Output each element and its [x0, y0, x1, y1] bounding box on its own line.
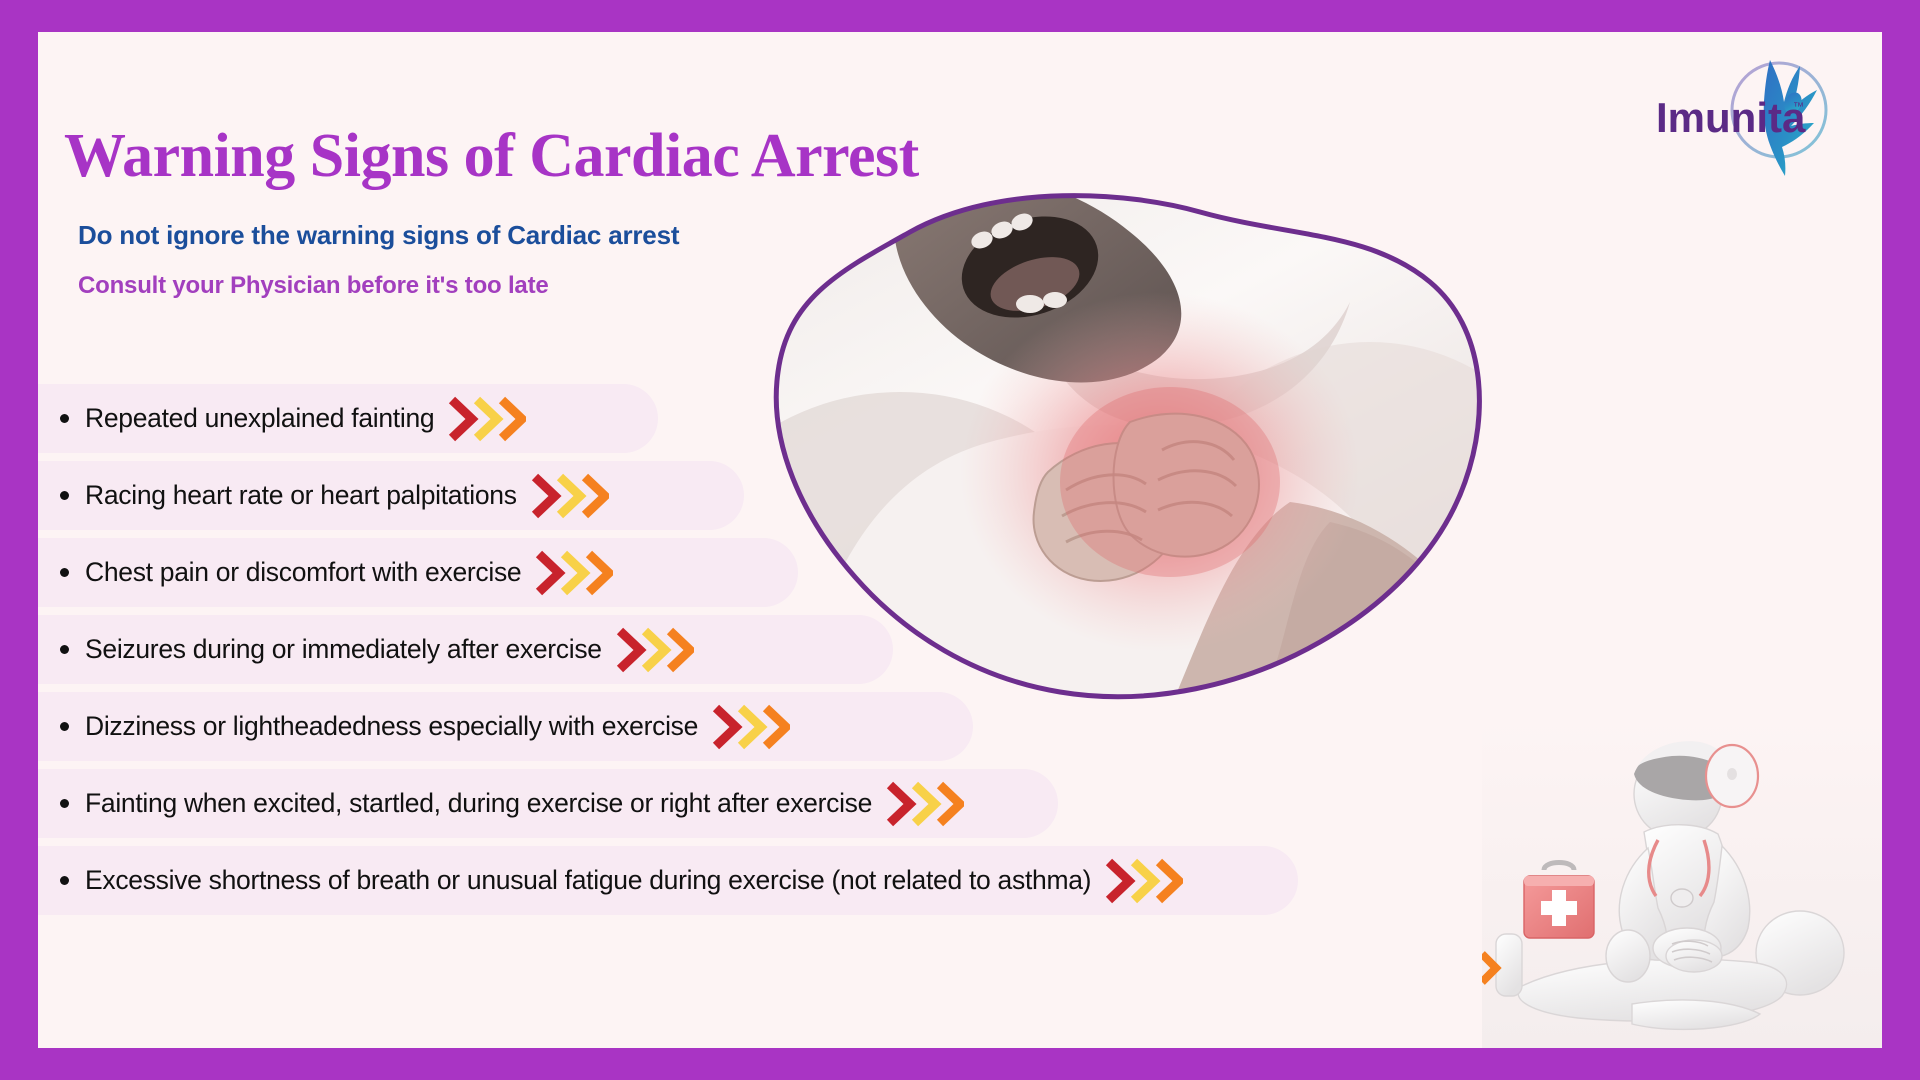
subtitle-secondary: Consult your Physician before it's too l…: [78, 272, 549, 300]
symptom-list: Repeated unexplained fainting Racing hea…: [38, 384, 1338, 923]
chevron-arrows-icon: [1105, 858, 1183, 904]
symptom-label: Fainting when excited, startled, during …: [85, 788, 872, 819]
bullet-dot-icon: [60, 722, 69, 731]
chevron-arrows-icon: [535, 550, 613, 596]
symptom-label: Chest pain or discomfort with exercise: [85, 557, 521, 588]
list-item: Repeated unexplained fainting: [38, 384, 1338, 453]
subtitle-primary: Do not ignore the warning signs of Cardi…: [78, 220, 679, 251]
poster-root: Imunita ™ Warning Signs of Cardiac Arres…: [0, 0, 1920, 1080]
row-content: Seizures during or immediately after exe…: [38, 634, 602, 665]
imunita-logo: Imunita ™: [1646, 44, 1836, 184]
bullet-dot-icon: [60, 491, 69, 500]
chevron-arrows-icon: [712, 704, 790, 750]
poster-card: Imunita ™ Warning Signs of Cardiac Arres…: [38, 32, 1882, 1048]
list-item: Fainting when excited, startled, during …: [38, 769, 1338, 838]
logo-wordmark: Imunita: [1656, 94, 1806, 141]
list-item: Seizures during or immediately after exe…: [38, 615, 1338, 684]
row-content: Racing heart rate or heart palpitations: [38, 480, 517, 511]
row-content: Fainting when excited, startled, during …: [38, 788, 872, 819]
list-item: Dizziness or lightheadedness especially …: [38, 692, 1338, 761]
bullet-dot-icon: [60, 414, 69, 423]
symptom-label: Racing heart rate or heart palpitations: [85, 480, 517, 511]
chevron-arrows-icon: [448, 396, 526, 442]
cpr-figurine-illustration: [1482, 718, 1882, 1048]
bullet-dot-icon: [60, 799, 69, 808]
symptom-label: Repeated unexplained fainting: [85, 403, 434, 434]
list-item: Chest pain or discomfort with exercise: [38, 538, 1338, 607]
chevron-arrows-icon: [531, 473, 609, 519]
row-content: Repeated unexplained fainting: [38, 403, 434, 434]
chevron-arrows-icon: [616, 627, 694, 673]
row-content: Excessive shortness of breath or unusual…: [38, 865, 1091, 896]
row-content: Dizziness or lightheadedness especially …: [38, 711, 698, 742]
symptom-label: Dizziness or lightheadedness especially …: [85, 711, 698, 742]
list-item: Racing heart rate or heart palpitations: [38, 461, 1338, 530]
bullet-dot-icon: [60, 876, 69, 885]
symptom-label: Excessive shortness of breath or unusual…: [85, 865, 1091, 896]
bullet-dot-icon: [60, 645, 69, 654]
bullet-dot-icon: [60, 568, 69, 577]
symptom-label: Seizures during or immediately after exe…: [85, 634, 602, 665]
chevron-arrows-icon: [886, 781, 964, 827]
row-content: Chest pain or discomfort with exercise: [38, 557, 521, 588]
logo-trademark: ™: [1793, 101, 1804, 113]
list-item: Excessive shortness of breath or unusual…: [38, 846, 1338, 915]
